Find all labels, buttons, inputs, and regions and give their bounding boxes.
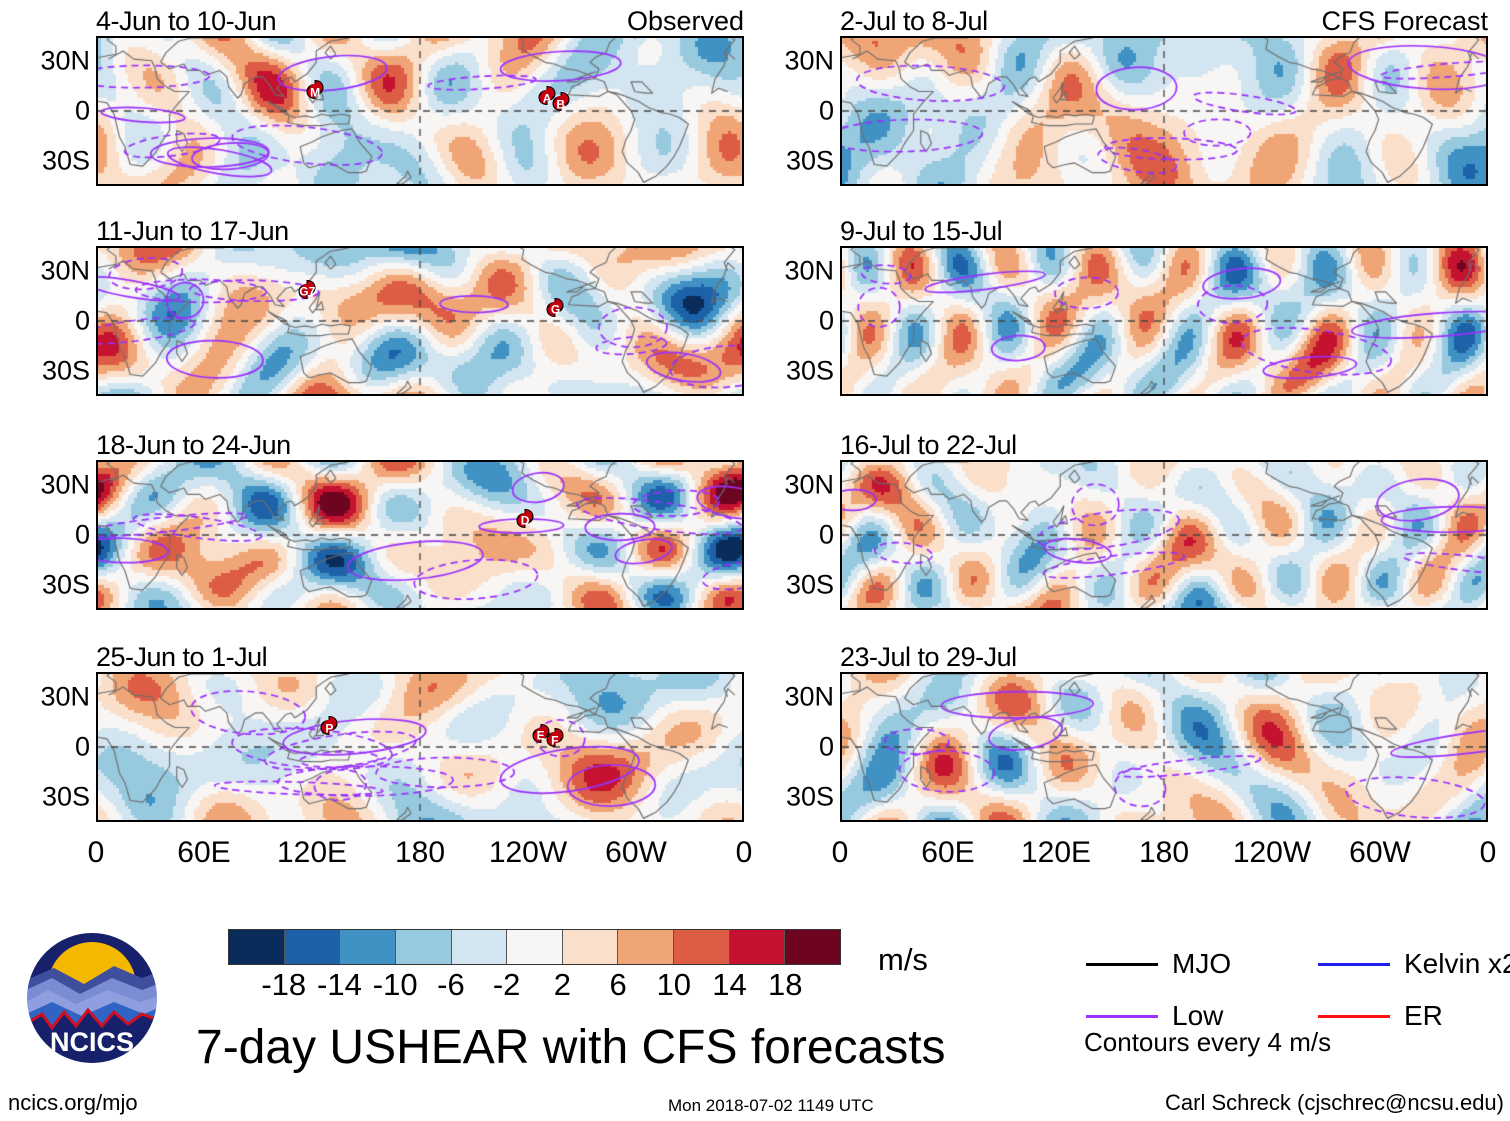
colorbar-unit-label: m/s	[878, 942, 928, 978]
storm-marker[interactable]: D	[512, 505, 538, 536]
colorbar-cell	[674, 930, 730, 964]
storm-marker[interactable]: M	[302, 77, 328, 108]
x-tick-label: 120E	[1021, 836, 1091, 870]
legend-label: ER	[1404, 1000, 1443, 1032]
colorbar-cell	[618, 930, 674, 964]
x-tick-label: 120E	[277, 836, 347, 870]
storm-marker-label: B	[556, 97, 565, 111]
y-tick-label: 0	[819, 96, 834, 127]
shear-anomaly-field	[98, 248, 742, 394]
colorbar-cell	[730, 930, 786, 964]
map-plot-area	[840, 672, 1488, 822]
colorbar-cell	[452, 930, 508, 964]
x-axis: 060E120E180120W60W0	[840, 836, 1488, 876]
storm-marker[interactable]: B	[548, 89, 574, 120]
storm-marker-label: P	[325, 721, 333, 735]
y-tick-label: 0	[75, 306, 90, 337]
y-tick-label: 0	[819, 306, 834, 337]
colorbar-tick-label: -2	[493, 967, 521, 1003]
y-tick-label: 30S	[42, 782, 90, 813]
shear-anomaly-field	[842, 674, 1486, 820]
page-title: 7-day USHEAR with CFS forecasts	[196, 1020, 946, 1075]
map-plot-area: G7G	[96, 246, 744, 396]
shear-anomaly-field	[98, 462, 742, 608]
storm-marker-label: D	[521, 514, 530, 528]
y-tick-label: 30N	[40, 46, 90, 77]
legend-line-swatch	[1318, 963, 1390, 966]
y-tick-label: 30S	[786, 146, 834, 177]
panel-title: 16-Jul to 22-Jul	[840, 430, 1017, 461]
y-tick-label: 0	[75, 520, 90, 551]
panel-title: 23-Jul to 29-Jul	[840, 642, 1017, 673]
colorbar-tick-label: 10	[657, 967, 691, 1003]
colorbar-cell	[396, 930, 452, 964]
map-plot-area: PEF	[96, 672, 744, 822]
x-tick-label: 120W	[1233, 836, 1311, 870]
y-tick-label: 30N	[40, 256, 90, 287]
y-tick-label: 30N	[784, 470, 834, 501]
panel-title: 11-Jun to 17-Jun	[96, 216, 289, 247]
colorbar-cell	[563, 930, 619, 964]
shear-anomaly-field	[842, 38, 1486, 184]
colorbar-cell	[785, 930, 840, 964]
storm-marker-label: G7	[299, 285, 315, 299]
y-tick-label: 30N	[784, 682, 834, 713]
panel-title: 25-Jun to 1-Jul	[96, 642, 267, 673]
footer-author: Carl Schreck (cjschrec@ncsu.edu)	[1165, 1090, 1504, 1116]
panel-title: 4-Jun to 10-Jun	[96, 6, 276, 37]
colorbar-cell	[507, 930, 563, 964]
y-tick-label: 30N	[40, 682, 90, 713]
y-tick-label: 30S	[42, 570, 90, 601]
x-tick-label: 0	[88, 836, 105, 870]
y-tick-label: 30N	[784, 46, 834, 77]
y-tick-label: 0	[819, 520, 834, 551]
map-plot-area	[840, 36, 1488, 186]
x-tick-label: 60W	[605, 836, 667, 870]
x-tick-label: 180	[395, 836, 445, 870]
colorbar-tick-label: 2	[554, 967, 571, 1003]
colorbar-tick-label: -10	[373, 967, 418, 1003]
storm-marker[interactable]: F	[542, 725, 568, 756]
colorbar-tick-label: -18	[261, 967, 306, 1003]
legend-label: Kelvin x2	[1404, 948, 1510, 980]
y-tick-label: 30S	[42, 356, 90, 387]
ncics-logo: NCICS	[22, 928, 162, 1068]
y-tick-label: 30N	[784, 256, 834, 287]
shear-anomaly-field	[98, 674, 742, 820]
shear-anomaly-field	[842, 248, 1486, 394]
legend-label: MJO	[1172, 948, 1231, 980]
map-plot-area	[840, 246, 1488, 396]
map-plot-area: D	[96, 460, 744, 610]
colorbar-tick-labels: -18-14-10-6-226101418	[228, 967, 841, 1001]
x-tick-label: 60W	[1349, 836, 1411, 870]
x-tick-label: 0	[832, 836, 849, 870]
y-tick-label: 30S	[786, 570, 834, 601]
storm-marker-label: G	[551, 303, 560, 317]
observed-column-label: Observed	[627, 6, 744, 37]
legend-item-er: ER	[1318, 1000, 1443, 1032]
colorbar-tick-label: -6	[437, 967, 465, 1003]
y-tick-label: 0	[75, 732, 90, 763]
map-plot-area: MAB	[96, 36, 744, 186]
y-tick-label: 0	[75, 96, 90, 127]
footer-site[interactable]: ncics.org/mjo	[8, 1090, 138, 1116]
colorbar-tick-label: 18	[768, 967, 802, 1003]
x-tick-label: 60E	[921, 836, 974, 870]
y-tick-label: 30S	[786, 356, 834, 387]
y-tick-label: 30N	[40, 470, 90, 501]
colorbar-cell	[229, 930, 285, 964]
storm-marker[interactable]: P	[316, 713, 342, 744]
x-tick-label: 0	[736, 836, 753, 870]
x-tick-label: 180	[1139, 836, 1189, 870]
colorbar: -18-14-10-6-226101418	[228, 929, 841, 1001]
legend-line-swatch	[1086, 963, 1158, 966]
panel-grid: 4-Jun to 10-JunObservedMAB30N030S11-Jun …	[0, 0, 1510, 885]
colorbar-tick-label: 14	[712, 967, 746, 1003]
x-tick-label: 0	[1480, 836, 1497, 870]
legend-line-swatch	[1318, 1015, 1390, 1018]
legend-item-mjo: MJO	[1086, 948, 1231, 980]
panel-title: 2-Jul to 8-Jul	[840, 6, 988, 37]
contour-interval-note: Contours every 4 m/s	[1084, 1027, 1331, 1058]
storm-marker[interactable]: G	[542, 294, 568, 325]
footer-timestamp: Mon 2018-07-02 1149 UTC	[668, 1096, 874, 1116]
colorbar-swatches	[228, 929, 841, 965]
shear-anomaly-field	[98, 38, 742, 184]
colorbar-cell	[340, 930, 396, 964]
colorbar-tick-label: -14	[317, 967, 362, 1003]
colorbar-tick-label: 6	[609, 967, 626, 1003]
storm-marker-label: M	[310, 85, 320, 99]
storm-marker[interactable]: G7	[294, 276, 320, 307]
panel-title: 18-Jun to 24-Jun	[96, 430, 291, 461]
y-tick-label: 30S	[42, 146, 90, 177]
x-tick-label: 120W	[489, 836, 567, 870]
panel-title: 9-Jul to 15-Jul	[840, 216, 1002, 247]
forecast-column-label: CFS Forecast	[1321, 6, 1488, 37]
shear-anomaly-field	[842, 462, 1486, 608]
x-axis: 060E120E180120W60W0	[96, 836, 744, 876]
x-tick-label: 60E	[177, 836, 230, 870]
legend-line-swatch	[1086, 1015, 1158, 1018]
y-tick-label: 30S	[786, 782, 834, 813]
y-tick-label: 0	[819, 732, 834, 763]
legend-item-kelvin-x2: Kelvin x2	[1318, 948, 1510, 980]
colorbar-cell	[285, 930, 341, 964]
logo-text: NCICS	[50, 1027, 134, 1057]
map-plot-area	[840, 460, 1488, 610]
storm-marker-label: F	[551, 733, 558, 747]
